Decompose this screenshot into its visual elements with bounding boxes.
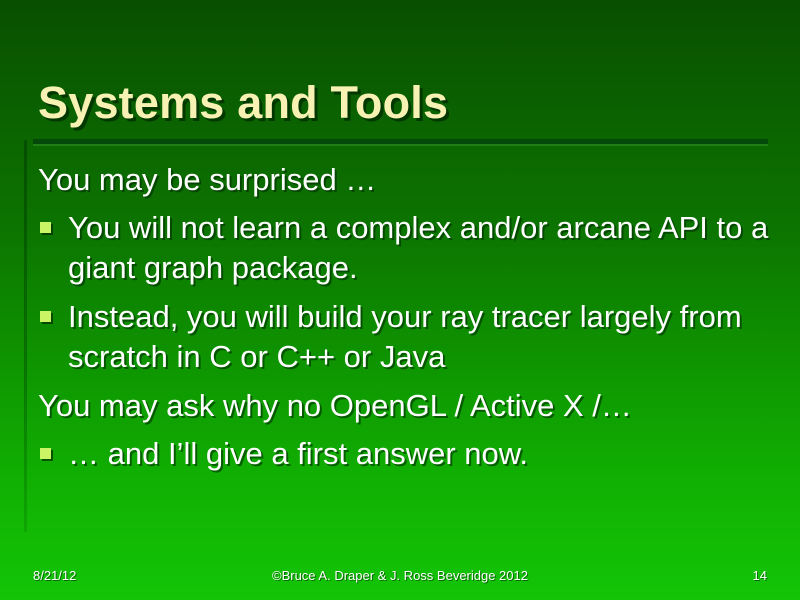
bullet-item-label: You will not learn a complex and/or arca… (68, 208, 773, 288)
bullet-item: Instead, you will build your ray tracer … (33, 297, 773, 377)
body-line-text: You may ask why no OpenGL / Active X /… (38, 386, 773, 426)
bullet-item-label: … and I’ll give a first answer now. (68, 434, 773, 474)
body-line-intro: You may be surprised … (33, 160, 773, 200)
body-line-question: You may ask why no OpenGL / Active X /… (33, 386, 773, 426)
left-accent-rule (24, 140, 27, 532)
page-title: Systems and Tools (38, 80, 768, 125)
bullet-item-label: Instead, you will build your ray tracer … (68, 297, 773, 377)
square-bullet-icon (40, 448, 51, 459)
bullet-item: … and I’ll give a first answer now. (33, 434, 773, 474)
slide-body: You may be surprised … You will not lear… (33, 160, 773, 483)
title-divider (33, 139, 768, 144)
footer-page-number: 14 (677, 568, 800, 583)
body-line-text: You may be surprised … (38, 160, 773, 200)
square-bullet-icon (40, 222, 51, 233)
slide-footer: 8/21/12 ©Bruce A. Draper & J. Ross Bever… (0, 558, 800, 600)
square-bullet-icon (40, 311, 51, 322)
presentation-slide: Systems and Tools You may be surprised …… (0, 0, 800, 600)
bullet-item: You will not learn a complex and/or arca… (33, 208, 773, 288)
